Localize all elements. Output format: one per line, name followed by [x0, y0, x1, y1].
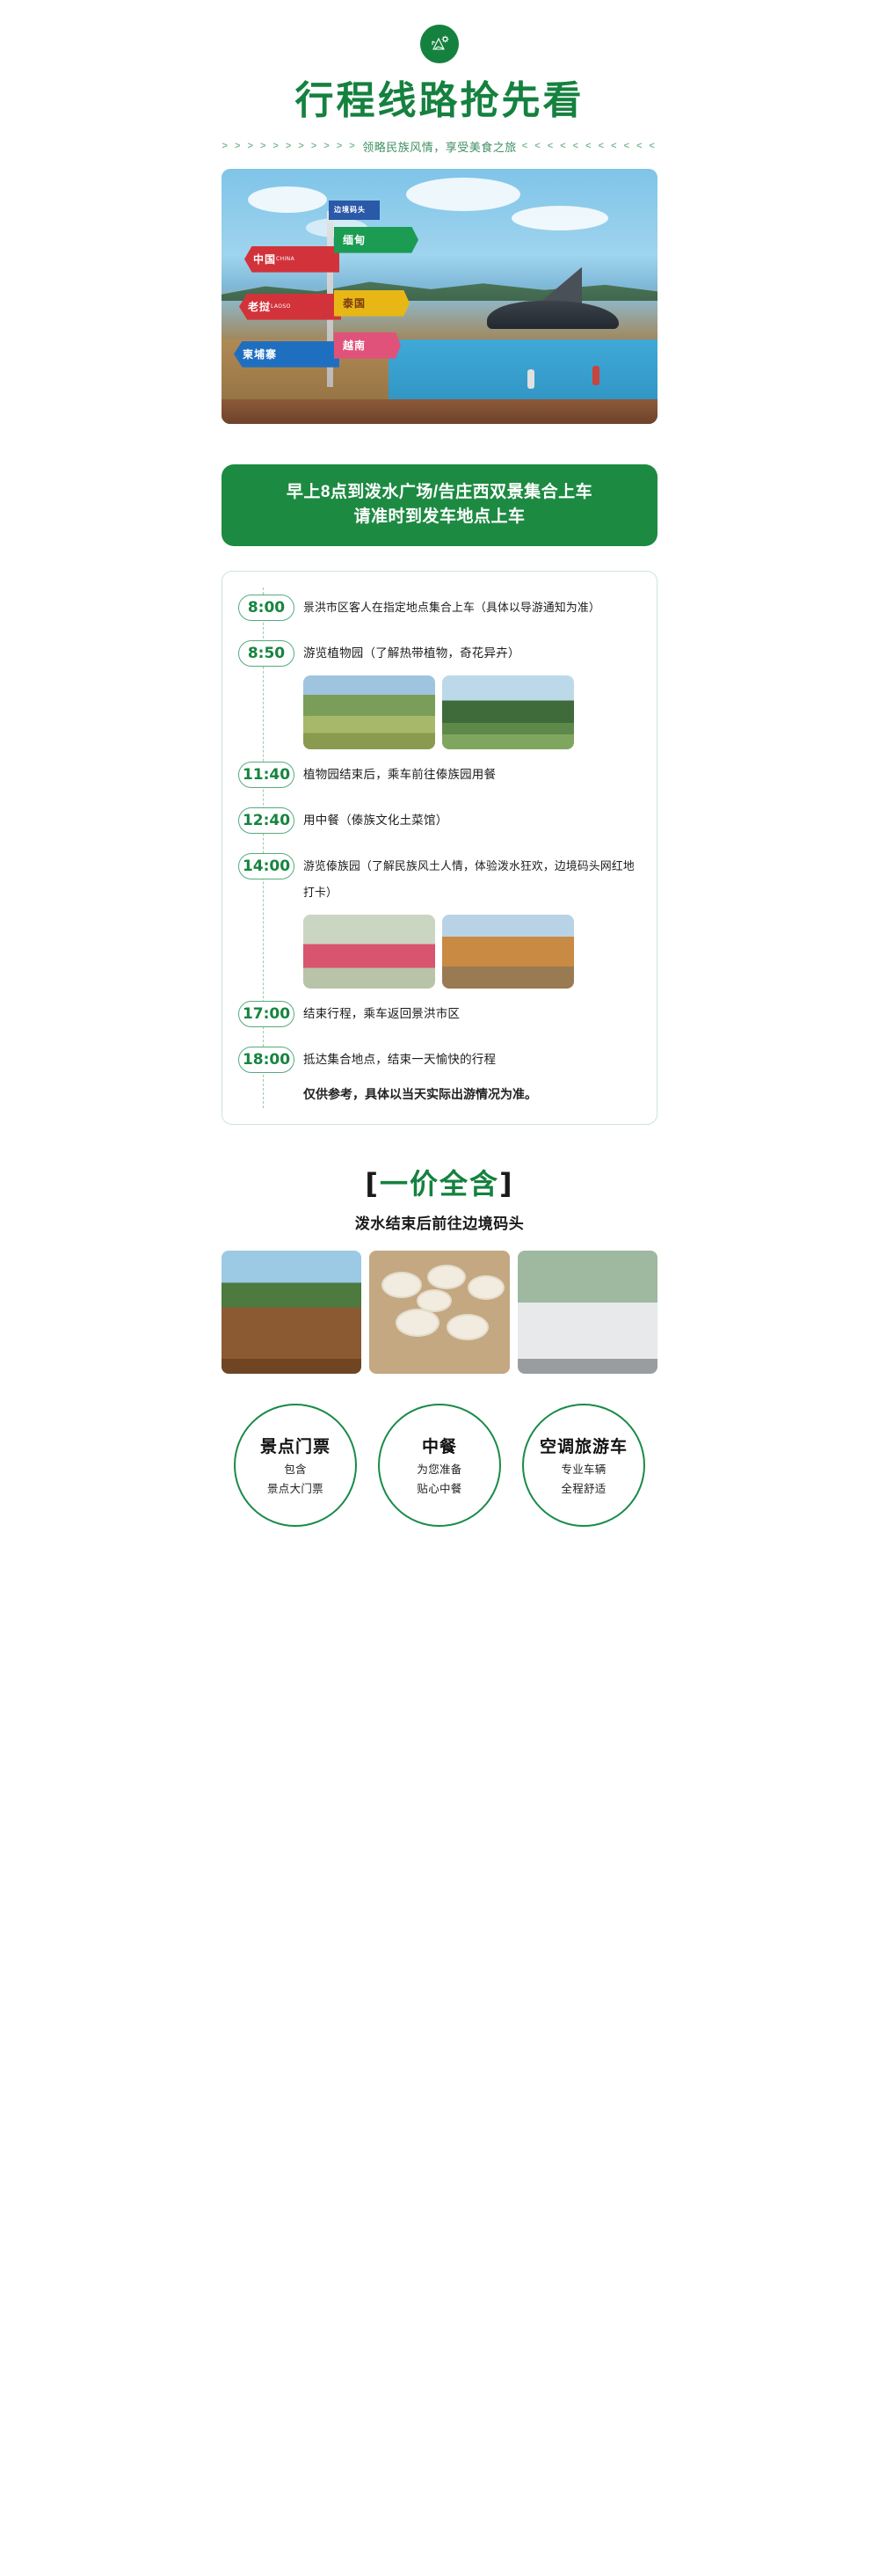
- itinerary-timeline-card: 8:00 景洪市区客人在指定地点集合上车（具体以导游通知为准） 8:50 游览植…: [222, 571, 657, 1125]
- subtitle-row: > > > > > > > > > > > 领略民族风情，享受美食之旅 < < …: [193, 138, 686, 155]
- sign-vietnam: 越南: [334, 332, 401, 359]
- time-badge: 11:40: [238, 762, 294, 788]
- timeline-photo-pair: [303, 915, 641, 989]
- bracket-left: [: [365, 1167, 380, 1200]
- dai-temple-photo: [222, 1251, 361, 1374]
- timeline-item: 12:40 用中餐（傣族文化土菜馆）: [238, 807, 641, 834]
- timeline-item: 14:00 游览傣族园（了解民族风土人情，体验泼水狂欢，边境码头网红地打卡）: [238, 853, 641, 906]
- timeline-item-text: 结束行程，乘车返回景洪市区: [303, 1001, 460, 1027]
- timeline-item: 17:00 结束行程，乘车返回景洪市区: [238, 1001, 641, 1027]
- benefit-title: 中餐: [422, 1434, 457, 1457]
- timeline-item-text: 游览植物园（了解热带植物，奇花异卉）: [303, 640, 520, 667]
- timeline-item: 18:00 抵达集合地点，结束一天愉快的行程: [238, 1047, 641, 1073]
- chevrons-left-decoration: > > > > > > > > > > >: [222, 141, 358, 151]
- time-badge: 8:00: [238, 595, 294, 621]
- sign-laos: 老挝LAOSO: [239, 294, 341, 320]
- time-badge: 17:00: [238, 1001, 294, 1027]
- time-badge: 18:00: [238, 1047, 294, 1073]
- brand-logo-badge: [420, 25, 459, 63]
- tour-bus-photo: [518, 1251, 657, 1374]
- benefit-line-1: 包含: [284, 1460, 307, 1477]
- sign-china: 中国CHINA: [244, 246, 339, 273]
- inclusive-photo-row: [222, 1251, 657, 1374]
- timeline-disclaimer: 仅供参考，具体以当天实际出游情况为准。: [303, 1085, 641, 1103]
- palm-lake-photo: [442, 675, 574, 749]
- hero-photo: 边境码头 中国CHINA 老挝LAOSO 柬埔寨 缅甸 泰国 越南: [222, 169, 657, 424]
- terrace-garden-photo: [303, 675, 435, 749]
- sign-cambodia: 柬埔寨: [234, 341, 339, 368]
- time-badge: 14:00: [238, 853, 294, 879]
- inclusive-subtitle: 泼水结束后前往边境码头: [193, 1211, 686, 1233]
- departure-banner: 早上8点到泼水广场/告庄西双景集合上车 请准时到发车地点上车: [222, 464, 657, 546]
- timeline-item-text: 抵达集合地点，结束一天愉快的行程: [303, 1047, 496, 1073]
- benefit-title: 空调旅游车: [540, 1434, 628, 1457]
- mountain-sun-icon: [428, 33, 451, 55]
- logo-wrap: [193, 0, 686, 63]
- timeline-item-text: 植物园结束后，乘车前往傣族园用餐: [303, 762, 496, 788]
- inclusive-title-text: 一价全含: [380, 1167, 499, 1200]
- benefit-line-2: 景点大门票: [267, 1479, 323, 1496]
- page-root: 行程线路抢先看 > > > > > > > > > > > 领略民族风情，享受美…: [193, 0, 686, 1527]
- sign-myanmar: 缅甸: [334, 227, 418, 253]
- sign-border-pier: 边境码头: [329, 201, 380, 220]
- sign-thailand: 泰国: [334, 290, 410, 317]
- chinese-lunch-photo: [369, 1251, 509, 1374]
- timeline-item: 8:50 游览植物园（了解热带植物，奇花异卉）: [238, 640, 641, 667]
- time-badge: 12:40: [238, 807, 294, 834]
- banner-line-1: 早上8点到泼水广场/告庄西双景集合上车: [243, 480, 636, 506]
- dai-gate-photo: [442, 915, 574, 989]
- time-badge: 8:50: [238, 640, 294, 667]
- benefit-circle-lunch: 中餐 为您准备 贴心中餐: [378, 1404, 501, 1527]
- benefit-circle-tickets: 景点门票 包含 景点大门票: [234, 1404, 357, 1527]
- timeline-item: 11:40 植物园结束后，乘车前往傣族园用餐: [238, 762, 641, 788]
- page-subtitle: 领略民族风情，享受美食之旅: [362, 138, 517, 155]
- inclusive-benefit-circles: 景点门票 包含 景点大门票 中餐 为您准备 贴心中餐 空调旅游车 专业车辆 全程…: [222, 1404, 657, 1527]
- benefit-line-1: 为您准备: [417, 1460, 461, 1477]
- benefit-line-2: 全程舒适: [561, 1479, 606, 1496]
- benefit-line-2: 贴心中餐: [417, 1479, 461, 1496]
- dai-dance-photo: [303, 915, 435, 989]
- inclusive-title: [一价全含]: [193, 1162, 686, 1202]
- page-title: 行程线路抢先看: [193, 79, 686, 124]
- benefit-circle-bus: 空调旅游车 专业车辆 全程舒适: [522, 1404, 645, 1527]
- timeline-item-text: 游览傣族园（了解民族风土人情，体验泼水狂欢，边境码头网红地打卡）: [303, 853, 641, 906]
- timeline-item-text: 景洪市区客人在指定地点集合上车（具体以导游通知为准）: [303, 595, 600, 621]
- bracket-right: ]: [499, 1167, 514, 1200]
- timeline-item: 8:00 景洪市区客人在指定地点集合上车（具体以导游通知为准）: [238, 595, 641, 621]
- chevrons-right-decoration: < < < < < < < < < < <: [522, 141, 657, 151]
- benefit-line-1: 专业车辆: [561, 1460, 606, 1477]
- timeline-item-text: 用中餐（傣族文化土菜馆）: [303, 807, 447, 834]
- banner-line-2: 请准时到发车地点上车: [243, 505, 636, 530]
- timeline-photo-pair: [303, 675, 641, 749]
- benefit-title: 景点门票: [260, 1434, 331, 1457]
